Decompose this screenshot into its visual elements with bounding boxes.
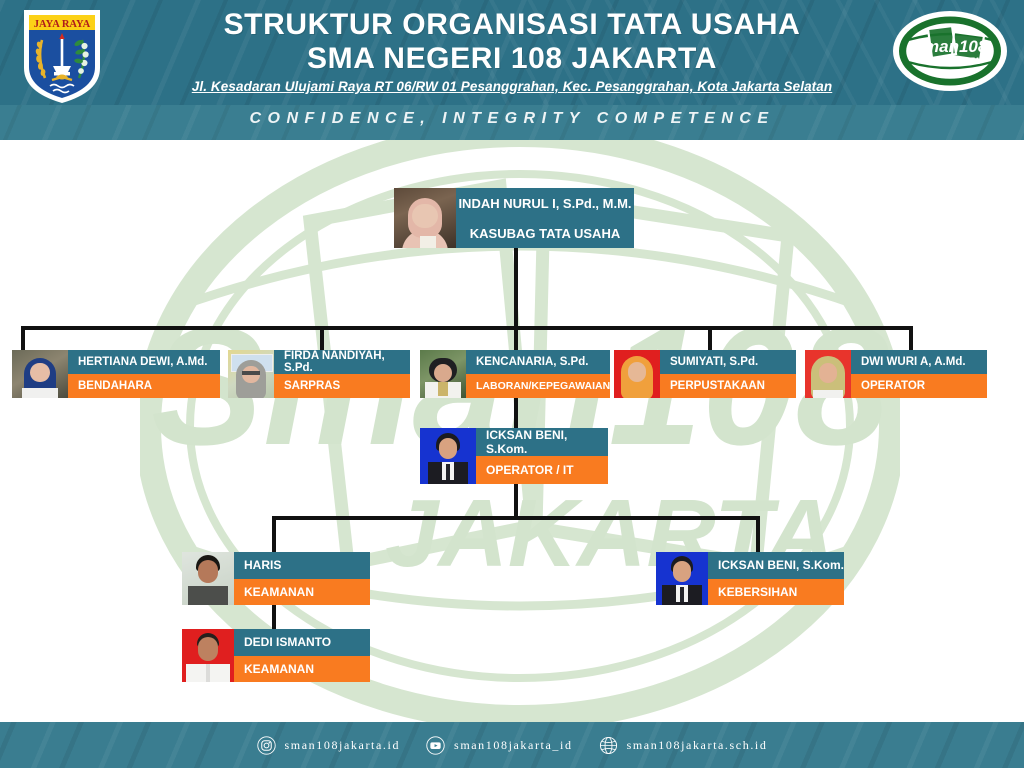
connector-head-down bbox=[514, 248, 518, 328]
avatar bbox=[182, 629, 234, 682]
org-chart-canvas: Sman108 JAKARTA INDAH NURUL I, S.Pd., M.… bbox=[0, 140, 1024, 722]
sman108-jakarta-logo-icon: Sman108 JAKARTA bbox=[892, 10, 1008, 92]
node-role: BENDAHARA bbox=[68, 374, 220, 398]
avatar bbox=[614, 350, 660, 398]
node-text: HERTIANA DEWI, A.Md. BENDAHARA bbox=[68, 350, 220, 398]
school-motto: CONFIDENCE, INTEGRITY COMPETENCE bbox=[0, 110, 1024, 128]
node-name: ICKSAN BENI, S.Kom. bbox=[708, 552, 844, 579]
globe-icon bbox=[599, 736, 618, 755]
connector-level2-bus bbox=[21, 326, 913, 330]
org-node-support-dedi[interactable]: DEDI ISMANTO KEAMANAN bbox=[182, 629, 370, 682]
node-role: OPERATOR / IT bbox=[476, 456, 608, 484]
node-role: SARPRAS bbox=[274, 374, 410, 398]
node-name: DWI WURI A, A.Md. bbox=[851, 350, 987, 374]
jakarta-province-emblem-icon: JAYA RAYA bbox=[20, 6, 104, 106]
footer-item-website[interactable]: sman108jakarta.sch.id bbox=[599, 736, 768, 755]
node-name: HERTIANA DEWI, A.Md. bbox=[68, 350, 220, 374]
instagram-icon bbox=[257, 736, 276, 755]
node-text: DEDI ISMANTO KEAMANAN bbox=[234, 629, 370, 682]
connector-staff3-to-it bbox=[514, 398, 518, 428]
node-role: KEBERSIHAN bbox=[708, 579, 844, 606]
node-name: INDAH NURUL I, S.Pd., M.M. bbox=[456, 188, 634, 218]
node-text: SUMIYATI, S.Pd. PERPUSTAKAAN bbox=[660, 350, 796, 398]
connector-support-bus bbox=[272, 516, 760, 520]
node-name: FIRDA NANDIYAH, S.Pd. bbox=[274, 350, 410, 374]
org-node-staff-operator[interactable]: DWI WURI A, A.Md. OPERATOR bbox=[805, 350, 987, 398]
node-text: ICKSAN BENI, S.Kom. OPERATOR / IT bbox=[476, 428, 608, 484]
org-node-staff-perpustakaan[interactable]: SUMIYATI, S.Pd. PERPUSTAKAAN bbox=[614, 350, 796, 398]
connector-drop-staff-3 bbox=[514, 326, 518, 350]
avatar bbox=[420, 350, 466, 398]
node-role: KEAMANAN bbox=[234, 579, 370, 606]
footer-label-instagram: sman108jakarta.id bbox=[285, 738, 401, 753]
node-name: SUMIYATI, S.Pd. bbox=[660, 350, 796, 374]
page-footer: sman108jakarta.id sman108jakarta_id sman… bbox=[0, 722, 1024, 768]
avatar bbox=[656, 552, 708, 605]
header-title-block: STRUKTUR ORGANISASI TATA USAHA SMA NEGER… bbox=[150, 8, 874, 94]
footer-item-youtube[interactable]: sman108jakarta_id bbox=[426, 736, 573, 755]
footer-label-youtube: sman108jakarta_id bbox=[454, 738, 573, 753]
connector-drop-support-left bbox=[272, 516, 276, 552]
node-role: KASUBAG TATA USAHA bbox=[456, 218, 634, 248]
node-text: DWI WURI A, A.Md. OPERATOR bbox=[851, 350, 987, 398]
node-text: KENCANARIA, S.Pd. LABORAN/KEPEGAWAIAN bbox=[466, 350, 610, 398]
school-address: Jl. Kesadaran Ulujami Raya RT 06/RW 01 P… bbox=[150, 79, 874, 94]
org-node-head[interactable]: INDAH NURUL I, S.Pd., M.M. KASUBAG TATA … bbox=[394, 188, 634, 248]
connector-drop-staff-1 bbox=[21, 326, 25, 350]
logo-subtext: JAKARTA bbox=[936, 56, 981, 67]
avatar bbox=[805, 350, 851, 398]
node-text: FIRDA NANDIYAH, S.Pd. SARPRAS bbox=[274, 350, 410, 398]
node-text: INDAH NURUL I, S.Pd., M.M. KASUBAG TATA … bbox=[456, 188, 634, 248]
page-title-line1: STRUKTUR ORGANISASI TATA USAHA bbox=[150, 8, 874, 42]
node-name: HARIS bbox=[234, 552, 370, 579]
connector-it-down bbox=[514, 484, 518, 518]
node-text: ICKSAN BENI, S.Kom. KEBERSIHAN bbox=[708, 552, 844, 605]
avatar bbox=[228, 350, 274, 398]
avatar bbox=[182, 552, 234, 605]
node-name: ICKSAN BENI, S.Kom. bbox=[476, 428, 608, 456]
node-name: KENCANARIA, S.Pd. bbox=[466, 350, 610, 374]
logo-text: Sman108 bbox=[913, 37, 988, 56]
org-node-staff-laboran[interactable]: KENCANARIA, S.Pd. LABORAN/KEPEGAWAIAN bbox=[420, 350, 602, 398]
connector-haris-to-dedi bbox=[272, 605, 276, 629]
node-role: PERPUSTAKAAN bbox=[660, 374, 796, 398]
youtube-icon bbox=[426, 736, 445, 755]
avatar bbox=[12, 350, 68, 398]
emblem-banner-text: JAYA RAYA bbox=[34, 19, 91, 30]
connector-drop-staff-4 bbox=[708, 326, 712, 350]
node-text: HARIS KEAMANAN bbox=[234, 552, 370, 605]
org-node-support-haris[interactable]: HARIS KEAMANAN bbox=[182, 552, 370, 605]
footer-item-instagram[interactable]: sman108jakarta.id bbox=[257, 736, 401, 755]
org-node-staff-bendahara[interactable]: HERTIANA DEWI, A.Md. BENDAHARA bbox=[12, 350, 220, 398]
avatar bbox=[394, 188, 456, 248]
org-node-support-kebersihan[interactable]: ICKSAN BENI, S.Kom. KEBERSIHAN bbox=[656, 552, 844, 605]
node-role: KEAMANAN bbox=[234, 656, 370, 683]
connector-drop-staff-5 bbox=[909, 326, 913, 350]
connector-drop-support-right bbox=[756, 516, 760, 552]
page-title-line2: SMA NEGERI 108 JAKARTA bbox=[150, 42, 874, 76]
avatar bbox=[420, 428, 476, 484]
node-role: LABORAN/KEPEGAWAIAN bbox=[466, 374, 610, 398]
node-name: DEDI ISMANTO bbox=[234, 629, 370, 656]
connector-drop-staff-2 bbox=[320, 326, 324, 350]
org-node-it[interactable]: ICKSAN BENI, S.Kom. OPERATOR / IT bbox=[420, 428, 608, 484]
node-role: OPERATOR bbox=[851, 374, 987, 398]
org-node-staff-sarpras[interactable]: FIRDA NANDIYAH, S.Pd. SARPRAS bbox=[228, 350, 410, 398]
footer-label-website: sman108jakarta.sch.id bbox=[627, 738, 768, 753]
